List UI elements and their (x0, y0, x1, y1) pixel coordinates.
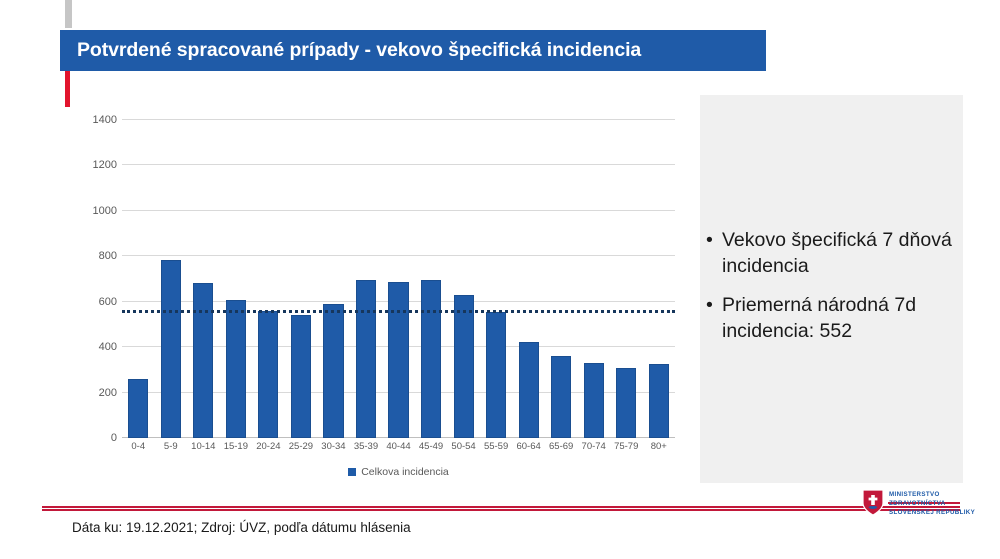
bar-30-34[interactable] (323, 304, 343, 438)
bar-45-49[interactable] (421, 280, 441, 438)
x-axis-tick-label: 50-54 (447, 441, 480, 452)
y-axis-tick-label: 1400 (75, 114, 117, 126)
bar-15-19[interactable] (226, 300, 246, 438)
bullet-marker-icon: • (706, 293, 722, 319)
x-axis-tick-label: 45-49 (415, 441, 448, 452)
y-axis-tick-label: 200 (75, 387, 117, 399)
x-axis-tick-label: 10-14 (187, 441, 220, 452)
y-axis-labels: 1400120010008006004002000 (75, 120, 117, 438)
bar-slot (415, 120, 448, 438)
y-axis-tick-label: 800 (75, 250, 117, 262)
bar-slot (220, 120, 253, 438)
x-axis-tick-label: 75-79 (610, 441, 643, 452)
bar-slot (317, 120, 350, 438)
bar-slot (447, 120, 480, 438)
y-axis-tick-label: 400 (75, 341, 117, 353)
bullet-marker-icon: • (706, 228, 722, 254)
bar-chart: 1400120010008006004002000 0-45-910-1415-… (75, 108, 685, 493)
y-axis-tick-label: 600 (75, 296, 117, 308)
bullet-text: Vekovo špecifická 7 dňová incidencia (722, 228, 968, 279)
bar-slot (155, 120, 188, 438)
list-item: • Vekovo špecifická 7 dňová incidencia (706, 228, 968, 279)
bullet-list: • Vekovo špecifická 7 dňová incidencia •… (706, 228, 968, 359)
slovak-coat-of-arms-shield-icon (862, 489, 884, 516)
bar-series (122, 120, 675, 438)
footer-divider-inner (42, 508, 960, 509)
logo-line-3: SLOVENSKEJ REPUBLIKY (889, 509, 975, 518)
x-axis-labels: 0-45-910-1415-1920-2425-2930-3435-3940-4… (122, 441, 675, 452)
bar-5-9[interactable] (161, 260, 181, 438)
x-axis-tick-label: 30-34 (317, 441, 350, 452)
x-axis-tick-label: 70-74 (577, 441, 610, 452)
bar-55-59[interactable] (486, 312, 506, 438)
bar-10-14[interactable] (193, 283, 213, 438)
y-axis-tick-label: 0 (75, 432, 117, 444)
bar-slot (577, 120, 610, 438)
bar-20-24[interactable] (258, 311, 278, 438)
bar-slot (122, 120, 155, 438)
red-accent-bar (65, 71, 70, 107)
chart-legend: Celkova incidencia (122, 466, 675, 478)
list-item: • Priemerná národná 7d incidencia: 552 (706, 293, 968, 344)
x-axis-tick-label: 20-24 (252, 441, 285, 452)
x-axis-tick-label: 80+ (643, 441, 676, 452)
bar-slot (545, 120, 578, 438)
bar-slot (252, 120, 285, 438)
x-axis-tick-label: 15-19 (220, 441, 253, 452)
page-title: Potvrdené spracované prípady - vekovo šp… (60, 39, 641, 62)
y-axis-tick-label: 1200 (75, 159, 117, 171)
y-axis-tick-label: 1000 (75, 205, 117, 217)
bar-60-64[interactable] (519, 342, 539, 438)
bar-70-74[interactable] (584, 363, 604, 438)
footer-source-text: Dáta ku: 19.12.2021; Zdroj: ÚVZ, podľa d… (72, 520, 411, 535)
x-axis-tick-label: 40-44 (382, 441, 415, 452)
national-average-reference-line (122, 310, 675, 313)
x-axis-tick-label: 5-9 (155, 441, 188, 452)
bar-slot (187, 120, 220, 438)
bar-slot (285, 120, 318, 438)
x-axis-tick-label: 65-69 (545, 441, 578, 452)
x-axis-tick-label: 35-39 (350, 441, 383, 452)
bar-slot (480, 120, 513, 438)
bar-40-44[interactable] (388, 282, 408, 438)
x-axis-tick-label: 0-4 (122, 441, 155, 452)
plot-area (122, 120, 675, 438)
bar-65-69[interactable] (551, 356, 571, 438)
bullet-text: Priemerná národná 7d incidencia: 552 (722, 293, 968, 344)
x-axis-tick-label: 25-29 (285, 441, 318, 452)
bar-slot (512, 120, 545, 438)
bar-50-54[interactable] (454, 295, 474, 438)
ministry-logo-text: MINISTERSTVO ZDRAVOTNÍCTVA SLOVENSKEJ RE… (889, 489, 975, 517)
slide-canvas: Potvrdené spracované prípady - vekovo šp… (0, 0, 1000, 559)
gray-accent-bar (65, 0, 72, 28)
bar-slot (643, 120, 676, 438)
bar-35-39[interactable] (356, 280, 376, 438)
x-axis-tick-label: 60-64 (512, 441, 545, 452)
bar-75-79[interactable] (616, 368, 636, 438)
bar-slot (382, 120, 415, 438)
legend-label: Celkova incidencia (361, 466, 449, 478)
bar-0-4[interactable] (128, 379, 148, 439)
slide-title-bar: Potvrdené spracované prípady - vekovo šp… (60, 30, 766, 71)
bar-slot (610, 120, 643, 438)
bar-80+[interactable] (649, 364, 669, 438)
bar-25-29[interactable] (291, 315, 311, 438)
legend-swatch-icon (348, 468, 356, 476)
ministry-logo: MINISTERSTVO ZDRAVOTNÍCTVA SLOVENSKEJ RE… (862, 489, 975, 517)
logo-line-2: ZDRAVOTNÍCTVA (889, 500, 975, 509)
logo-line-1: MINISTERSTVO (889, 491, 975, 500)
bar-slot (350, 120, 383, 438)
x-axis-tick-label: 55-59 (480, 441, 513, 452)
